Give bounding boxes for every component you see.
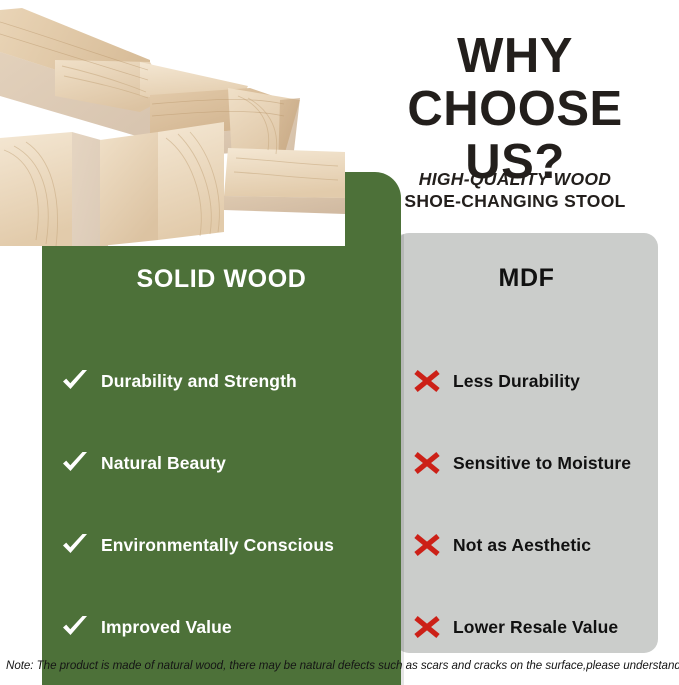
- list-item-label: Durability and Strength: [101, 371, 297, 392]
- cross-icon: [412, 530, 442, 560]
- cross-icon: [412, 448, 442, 478]
- list-item-label: Natural Beauty: [101, 453, 226, 474]
- list-item: Less Durability: [412, 340, 662, 422]
- check-icon: [60, 530, 90, 560]
- mdf-feature-list: Less Durability Sensitive to Moisture No…: [412, 340, 662, 668]
- subtitle-line-1: HIGH-QUALITY WOOD: [360, 168, 670, 190]
- list-item-label: Environmentally Conscious: [101, 535, 334, 556]
- disclaimer-note: Note: The product is made of natural woo…: [6, 659, 679, 672]
- check-icon: [60, 366, 90, 396]
- disclaimer-label: Note:: [6, 659, 33, 672]
- list-item-label: Lower Resale Value: [453, 617, 618, 638]
- page-title: WHY CHOOSE US?: [360, 30, 670, 189]
- headline-line-1: WHY: [360, 30, 670, 83]
- cross-icon: [412, 612, 442, 642]
- list-item-label: Less Durability: [453, 371, 580, 392]
- list-item: Environmentally Conscious: [60, 504, 390, 586]
- mdf-column-title: MDF: [395, 264, 658, 293]
- solid-wood-column-title: SOLID WOOD: [42, 265, 401, 294]
- subtitle-line-2: SHOE-CHANGING STOOL: [360, 190, 670, 212]
- solid-wood-feature-list: Durability and Strength Natural Beauty E…: [60, 340, 390, 668]
- list-item: Durability and Strength: [60, 340, 390, 422]
- list-item: Natural Beauty: [60, 422, 390, 504]
- cross-icon: [412, 366, 442, 396]
- list-item: Sensitive to Moisture: [412, 422, 662, 504]
- list-item-label: Sensitive to Moisture: [453, 453, 631, 474]
- why-choose-us-infographic: WHY CHOOSE US? HIGH-QUALITY WOOD SHOE-CH…: [0, 0, 679, 685]
- list-item: Not as Aesthetic: [412, 504, 662, 586]
- list-item: Improved Value: [60, 586, 390, 668]
- stacked-wood-beams-photo: [0, 0, 345, 246]
- list-item: Lower Resale Value: [412, 586, 662, 668]
- page-subtitle: HIGH-QUALITY WOOD SHOE-CHANGING STOOL: [360, 168, 670, 212]
- disclaimer-body: The product is made of natural wood, the…: [37, 659, 679, 672]
- check-icon: [60, 448, 90, 478]
- list-item-label: Improved Value: [101, 617, 232, 638]
- list-item-label: Not as Aesthetic: [453, 535, 591, 556]
- check-icon: [60, 612, 90, 642]
